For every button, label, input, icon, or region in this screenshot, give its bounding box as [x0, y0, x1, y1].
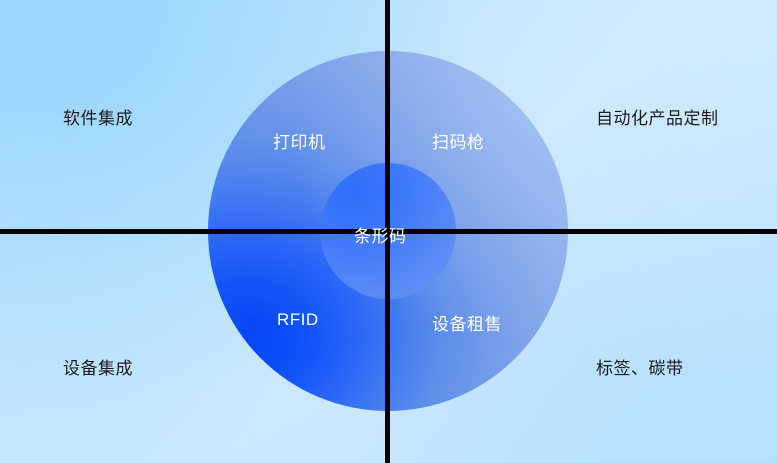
quadrant-label-device-integration: 设备集成 [63, 354, 133, 379]
ring-label-rental: 设备租售 [432, 310, 502, 335]
ring-label-scanner: 扫码枪 [432, 128, 485, 153]
quadrant-label-software-integration: 软件集成 [63, 104, 133, 129]
diagram-canvas: 软件集成 自动化产品定制 设备集成 标签、碳带 打印机 扫码枪 RFID 设备租… [0, 0, 777, 463]
quadrant-label-labels-ribbons: 标签、碳带 [596, 354, 684, 379]
ring-label-printer: 打印机 [273, 128, 326, 153]
quadrant-label-automation-customizing: 自动化产品定制 [596, 104, 719, 129]
ring-label-rfid: RFID [277, 310, 319, 330]
core-label-barcode: 条形码 [354, 222, 407, 247]
